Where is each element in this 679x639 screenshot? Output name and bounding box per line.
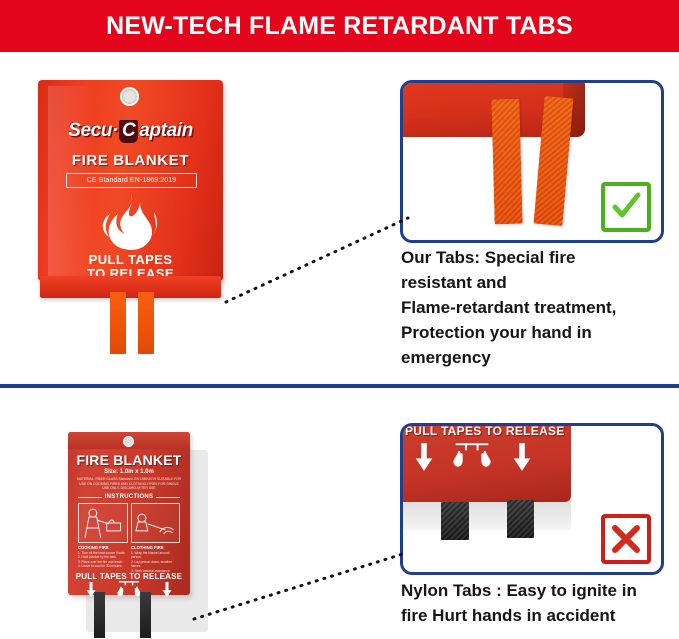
nylon-tabs-caption: Nylon Tabs : Easy to ignite in fire Hurt… (401, 578, 676, 628)
header-banner: NEW-TECH FLAME RETARDANT TABS (0, 0, 679, 52)
rule-right (156, 497, 180, 498)
grommet-hole-icon (120, 87, 139, 106)
competitor-size-label: Size: 1.0m x 1.0m (68, 469, 190, 475)
section-divider (0, 384, 679, 388)
zoom-competitor-pouch: PULL TAPES TO RELEASE (400, 423, 571, 502)
caption-line: Flame-retardant treatment, (401, 295, 676, 320)
our-tabs-caption: Our Tabs: Special fire resistant and Fla… (401, 245, 676, 370)
zoom-nylon-tab-left (441, 502, 469, 540)
brand-separator: · (112, 120, 118, 141)
clothing-fire-illustration-icon (132, 504, 180, 542)
instruction-panel-clothing (131, 503, 181, 543)
certification-box: CE Standard EN-1869:2019 (66, 173, 197, 188)
brand-shield-badge: C (119, 120, 138, 143)
orange-tab-left (110, 292, 126, 354)
nylon-tabs-zoom-inset: PULL TAPES TO RELEASE (400, 423, 664, 575)
competitor-product-name: FIRE BLANKET (68, 452, 190, 468)
zoom-orange-tab-left (491, 99, 522, 225)
caption-line: fire Hurt hands in accident (401, 603, 676, 628)
product-name-label: FIRE BLANKET (38, 152, 223, 169)
hands-pull-icon (116, 581, 142, 597)
instruction-panels (78, 503, 180, 543)
our-tabs-zoom-inset (400, 80, 664, 243)
pouch-front-panel: Secu·Captain FIRE BLANKET CE Standard EN… (38, 80, 223, 280)
competitor-front-panel: FIRE BLANKET Size: 1.0m x 1.0m MATERIAL:… (68, 432, 190, 595)
brand-name-part1: Secu (68, 120, 112, 141)
zoom-hands-pull-icon (451, 438, 493, 472)
cross-icon (611, 524, 641, 554)
caption-line: emergency (401, 345, 676, 370)
infographic-page: NEW-TECH FLAME RETARDANT TABS Secu·Capta… (0, 0, 679, 639)
caption-line: Protection your hand in (401, 320, 676, 345)
flame-icon (96, 192, 166, 254)
cooking-fire-illustration-icon (79, 504, 127, 542)
black-tab-right (140, 592, 151, 638)
panel-caption-clothing: CLOTHING FIRE (131, 545, 179, 550)
zoom-nylon-tab-right (507, 500, 534, 538)
arrow-down-icon-right (162, 582, 172, 597)
orange-tab-right (138, 292, 154, 354)
black-tab-left (94, 592, 105, 638)
zoom-arrow-down-icon-right (513, 442, 531, 472)
connector-line-bottom (190, 545, 410, 625)
panel-steps-clothing: 1. Wrap the blanket around person. 2. La… (131, 551, 179, 573)
competitor-fineprint: MATERIAL: FIBER GLASS Standard: EN 1869:… (76, 477, 182, 491)
instructions-label: INSTRUCTIONS (105, 494, 154, 500)
caption-line: Our Tabs: Special fire (401, 245, 676, 270)
connector-line-top (222, 212, 412, 307)
page-title: NEW-TECH FLAME RETARDANT TABS (106, 12, 573, 41)
instruction-panel-cooking (78, 503, 128, 543)
rule-left (78, 497, 102, 498)
certification-label: CE Standard EN-1869:2019 (87, 177, 177, 184)
caption-line: Nylon Tabs : Easy to ignite in (401, 578, 676, 603)
pull-tapes-line1: PULL TAPES (38, 252, 223, 267)
panel-caption-cooking: COOKING FIRE (78, 545, 126, 550)
competitor-product-pouch: FIRE BLANKET Size: 1.0m x 1.0m MATERIAL:… (68, 432, 193, 637)
grommet-hole-icon (123, 436, 134, 447)
brand-name-part2: aptain (139, 120, 193, 141)
our-product-pouch: Secu·Captain FIRE BLANKET CE Standard EN… (38, 80, 223, 310)
verdict-good-box (601, 182, 651, 232)
zoom-arrow-down-icon-left (415, 442, 433, 472)
verdict-bad-box (601, 514, 651, 564)
pouch-base-band (40, 276, 221, 298)
zoom-pull-tapes-label: PULL TAPES TO RELEASE (405, 424, 565, 438)
caption-line: resistant and (401, 270, 676, 295)
instructions-header: INSTRUCTIONS (78, 494, 180, 500)
zoom-surface-shadow (400, 500, 571, 530)
brand-logo: Secu·Captain (38, 120, 223, 143)
panel-steps-cooking: 1. Turn off the heat source if safe. 2. … (78, 551, 126, 569)
competitor-pull-tapes-label: PULL TAPES TO RELEASE (68, 572, 190, 581)
check-icon (611, 192, 641, 222)
